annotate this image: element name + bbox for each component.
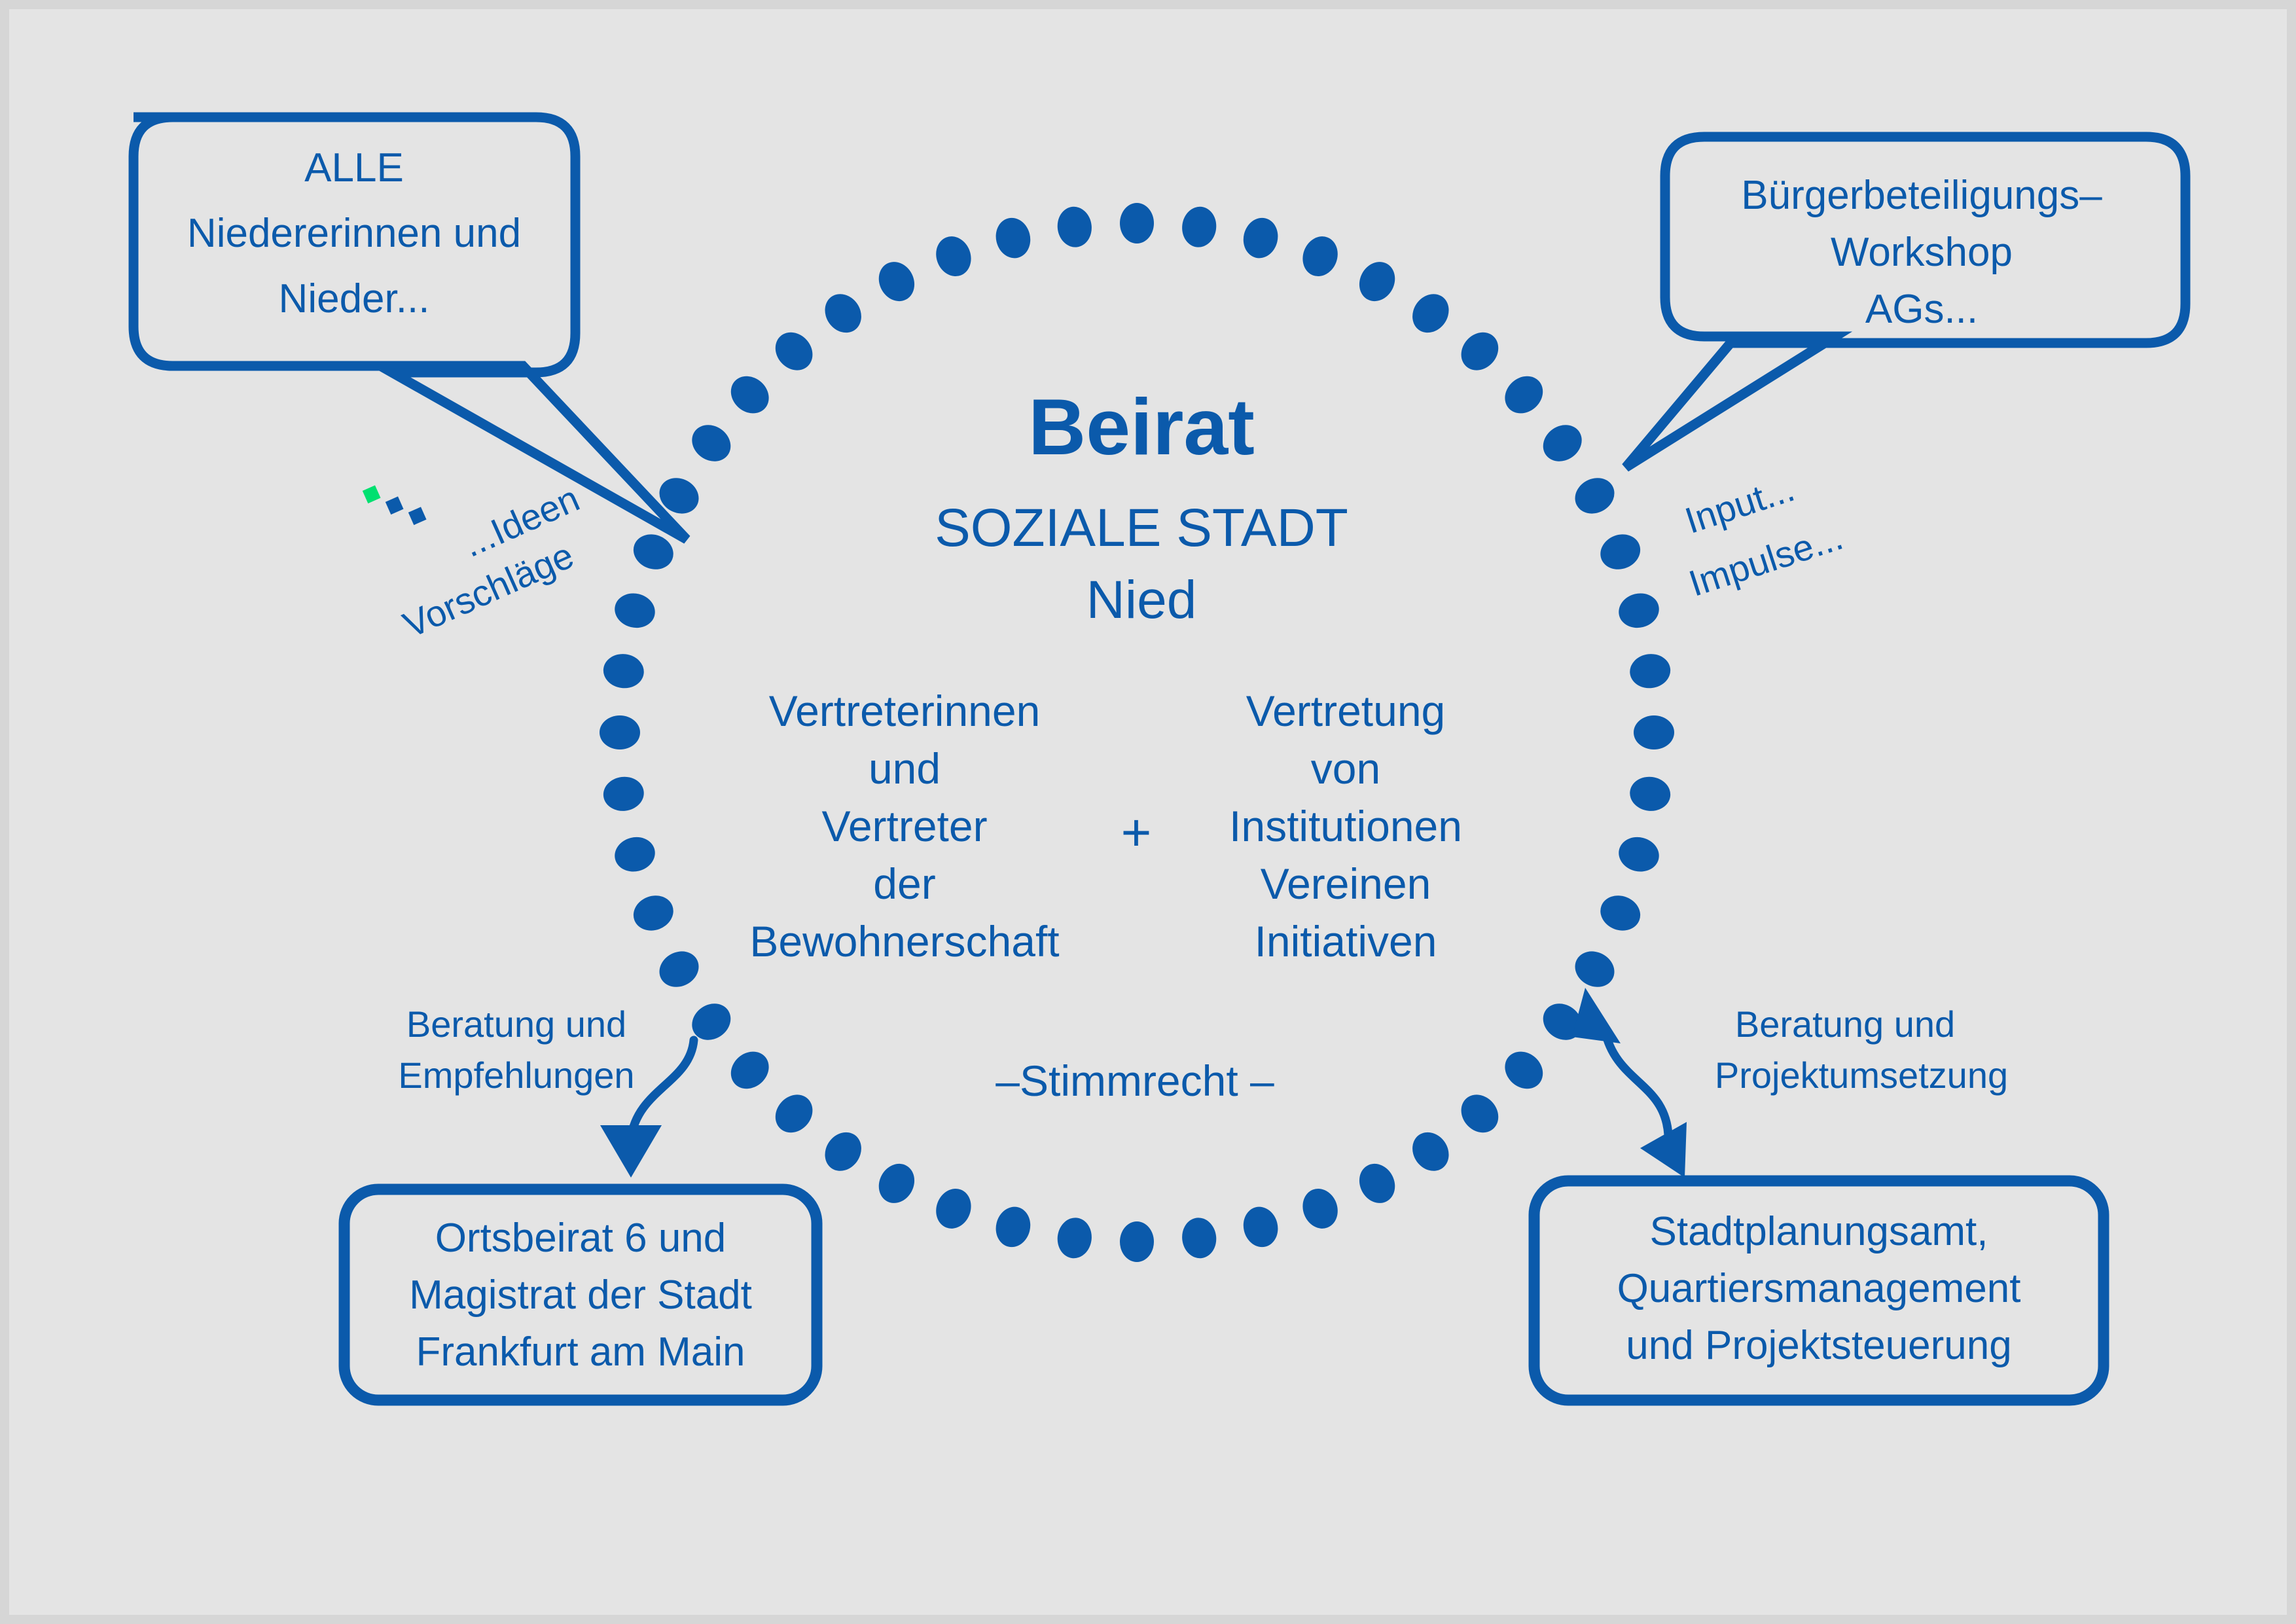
bubble-top-left-outline bbox=[134, 117, 687, 539]
ring-dot bbox=[1239, 1203, 1282, 1251]
bubble-top-left-line-1: ALLE bbox=[304, 145, 404, 190]
center-left-line-5: Bewohnerschaft bbox=[749, 917, 1059, 965]
box-bottom-left[interactable]: Ortsbeirat 6 und Magistrat der Stadt Fra… bbox=[344, 1189, 817, 1400]
left-inflow-labels: ...Ideen Vorschläge bbox=[363, 477, 585, 645]
right-outflow-line-2: Projektumsetzung bbox=[1715, 1055, 2008, 1096]
center-left-column: Vertreterinnen und Vertreter der Bewohne… bbox=[749, 687, 1059, 965]
ring-dot bbox=[1353, 1157, 1402, 1209]
ring-dot bbox=[611, 833, 659, 876]
center-right-line-3: Institutionen bbox=[1229, 802, 1462, 850]
center-left-line-2: und bbox=[869, 744, 941, 793]
ring-dot bbox=[685, 418, 738, 469]
box-bottom-right-line-1: Stadtplanungsamt, bbox=[1649, 1209, 1988, 1254]
ring-dot bbox=[1405, 287, 1456, 340]
center-subtitle-line-1: SOZIALE STADT bbox=[935, 498, 1348, 558]
ring-dot bbox=[1180, 205, 1219, 249]
ring-dot bbox=[1454, 1087, 1506, 1140]
ring-dot bbox=[1180, 1216, 1219, 1260]
ring-dot bbox=[1498, 1044, 1551, 1096]
center-right-line-5: Initiativen bbox=[1255, 917, 1437, 965]
ring-dot bbox=[1569, 945, 1621, 994]
ring-dot bbox=[1454, 325, 1506, 378]
ring-dot bbox=[768, 1087, 820, 1140]
plus-symbol: + bbox=[1121, 803, 1152, 861]
bubble-top-left[interactable]: ALLE Niedererinnen und Nieder... bbox=[134, 117, 687, 539]
ring-dot bbox=[817, 1125, 869, 1178]
ring-dot bbox=[1628, 774, 1672, 813]
ring-dot bbox=[1297, 1183, 1344, 1233]
box-bottom-right-line-2: Quartiersmanagement bbox=[1617, 1266, 2021, 1311]
ring-dot bbox=[1615, 589, 1663, 632]
center-title: Beirat bbox=[1028, 382, 1255, 471]
ring-dot bbox=[992, 214, 1034, 262]
box-bottom-left-line-1: Ortsbeirat 6 und bbox=[435, 1216, 726, 1261]
right-outflow-group: Beratung und Projektumsetzung bbox=[1572, 988, 2008, 1178]
box-bottom-right-line-3: und Projektsteuerung bbox=[1626, 1323, 2011, 1368]
ring-dot bbox=[1353, 256, 1402, 308]
ring-dot bbox=[601, 774, 646, 813]
ring-dot bbox=[723, 369, 776, 421]
bubble-top-right-line-1: Bürgerbeteiligungs– bbox=[1741, 173, 2102, 218]
box-bottom-left-line-3: Frankfurt am Main bbox=[416, 1329, 745, 1375]
bubble-top-right[interactable]: Bürgerbeteiligungs– Workshop AGs... bbox=[1626, 137, 2185, 467]
ring-dot bbox=[1595, 529, 1645, 575]
ring-dot bbox=[601, 652, 646, 691]
right-inflow-labels: Input... Impulse... bbox=[1680, 467, 1848, 604]
bubble-top-left-line-3: Nieder... bbox=[279, 276, 430, 321]
ring-dot bbox=[1120, 1221, 1154, 1262]
ring-dot bbox=[1595, 890, 1645, 937]
right-arrow-head-up bbox=[1572, 988, 1621, 1043]
center-left-line-4: der bbox=[873, 859, 935, 908]
ring-dot bbox=[1569, 471, 1621, 520]
ring-dot bbox=[1405, 1125, 1456, 1178]
beirat-soziale-stadt-nied-diagram: ALLE Niedererinnen und Nieder... Bürgerb… bbox=[9, 9, 2296, 1624]
bubble-top-right-line-3: AGs... bbox=[1865, 287, 1978, 332]
ring-dot bbox=[600, 715, 640, 749]
ring-dot bbox=[628, 890, 678, 937]
ring-dot bbox=[1634, 715, 1674, 749]
right-outflow-line-1: Beratung und bbox=[1735, 1003, 1955, 1045]
ring-dot bbox=[611, 589, 659, 632]
center-right-line-2: von bbox=[1311, 744, 1380, 793]
center-left-line-3: Vertreter bbox=[821, 802, 987, 850]
center-subtitle-line-2: Nied bbox=[1086, 570, 1197, 630]
ring-dot bbox=[1055, 1216, 1094, 1260]
ring-dot bbox=[1239, 214, 1282, 262]
ring-dot bbox=[1536, 418, 1589, 469]
right-arrow-head-down bbox=[1640, 1122, 1687, 1178]
ring-dot bbox=[653, 945, 705, 994]
left-outflow-line-1: Beratung und bbox=[406, 1003, 626, 1045]
ring-dot bbox=[1120, 203, 1154, 244]
ring-dot bbox=[992, 1203, 1034, 1251]
left-outflow-arrow-curve bbox=[631, 1040, 694, 1138]
ring-dot bbox=[1615, 833, 1663, 876]
box-bottom-right[interactable]: Stadtplanungsamt, Quartiersmanagement un… bbox=[1534, 1181, 2104, 1400]
center-footer-stimmrecht: –Stimmrecht – bbox=[996, 1056, 1274, 1105]
ring-dot bbox=[723, 1044, 776, 1096]
ring-dot bbox=[931, 1183, 977, 1233]
ring-dot bbox=[1628, 652, 1672, 691]
ring-dot bbox=[817, 287, 869, 340]
center-right-line-1: Vertretung bbox=[1246, 687, 1446, 735]
left-outflow-line-2: Empfehlungen bbox=[398, 1055, 634, 1096]
box-bottom-left-line-2: Magistrat der Stadt bbox=[409, 1272, 752, 1318]
left-outflow-group: Beratung und Empfehlungen bbox=[398, 1003, 694, 1178]
right-inflow-line-1: Input... bbox=[1680, 467, 1799, 541]
ring-dot bbox=[1055, 205, 1094, 249]
ring-dot bbox=[768, 325, 820, 378]
ring-dot bbox=[931, 231, 977, 281]
center-left-line-1: Vertreterinnen bbox=[769, 687, 1041, 735]
left-outflow-arrow-head bbox=[600, 1125, 662, 1178]
bubble-top-right-line-2: Workshop bbox=[1831, 230, 2013, 275]
ring-dot bbox=[1297, 231, 1344, 281]
ring-dot bbox=[872, 256, 921, 308]
ring-dot bbox=[872, 1157, 921, 1209]
center-headline-block: Beirat SOZIALE STADT Nied bbox=[935, 382, 1348, 630]
bubble-top-left-line-2: Niedererinnen und bbox=[187, 211, 521, 256]
center-right-column: Vertretung von Institutionen Vereinen In… bbox=[1229, 687, 1462, 965]
center-right-line-4: Vereinen bbox=[1261, 859, 1431, 908]
ring-dot bbox=[1498, 369, 1551, 421]
diagram-canvas: ALLE Niedererinnen und Nieder... Bürgerb… bbox=[0, 0, 2296, 1624]
green-ellipsis-marker bbox=[363, 485, 427, 525]
right-arrow-curve bbox=[1605, 1030, 1668, 1135]
